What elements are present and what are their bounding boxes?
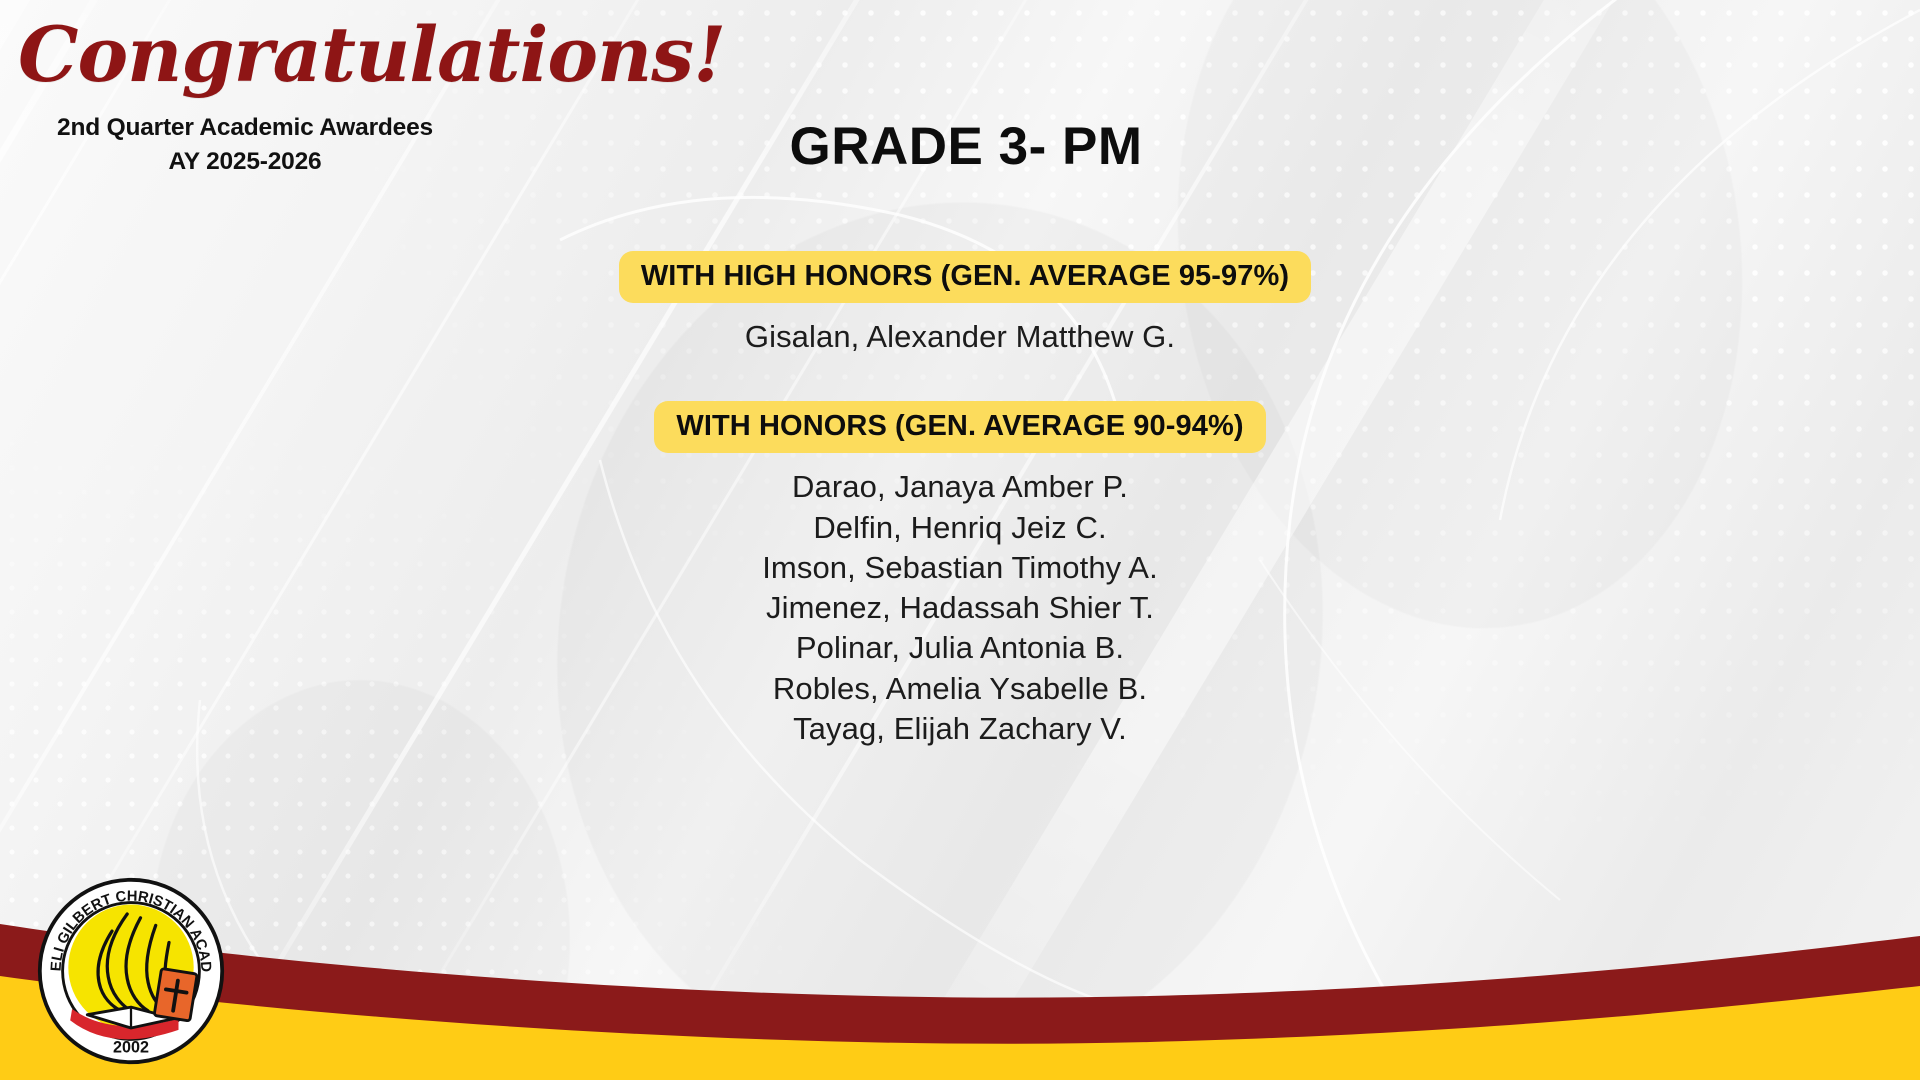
badge-with-honors: WITH HONORS (GEN. AVERAGE 90-94%) xyxy=(654,401,1265,453)
badge-with-high-honors: WITH HIGH HONORS (GEN. AVERAGE 95-97%) xyxy=(619,251,1311,303)
logo-year: 2002 xyxy=(113,1039,149,1057)
names-list-high-honors: Gisalan, Alexander Matthew G. xyxy=(330,317,1590,357)
school-logo: ANGELI GILBERT CHRISTIAN ACADEMY 2002 xyxy=(36,876,226,1066)
awardee-name: Polinar, Julia Antonia B. xyxy=(330,628,1590,668)
honor-section-honors: WITH HONORS (GEN. AVERAGE 90-94%) Darao,… xyxy=(330,401,1590,749)
names-list-honors: Darao, Janaya Amber P. Delfin, Henriq Je… xyxy=(330,467,1590,749)
awardee-name: Tayag, Elijah Zachary V. xyxy=(330,709,1590,749)
award-poster: Congratulations! 2nd Quarter Academic Aw… xyxy=(0,0,1920,1080)
section-spacer xyxy=(330,357,1590,401)
awardee-name: Delfin, Henriq Jeiz C. xyxy=(330,508,1590,548)
honor-section-high-honors: WITH HIGH HONORS (GEN. AVERAGE 95-97%) G… xyxy=(330,251,1590,357)
awardee-name: Gisalan, Alexander Matthew G. xyxy=(330,317,1590,357)
awardee-name: Jimenez, Hadassah Shier T. xyxy=(330,588,1590,628)
grade-title: GRADE 3- PM xyxy=(330,120,1590,173)
bottom-wave-decoration xyxy=(0,900,1920,1080)
awardee-name: Darao, Janaya Amber P. xyxy=(330,467,1590,507)
main-content: GRADE 3- PM WITH HIGH HONORS (GEN. AVERA… xyxy=(330,120,1590,749)
awardee-name: Robles, Amelia Ysabelle B. xyxy=(330,669,1590,709)
logo-bible-cross-icon xyxy=(154,968,197,1021)
awardee-name: Imson, Sebastian Timothy A. xyxy=(330,548,1590,588)
congratulations-title: Congratulations! xyxy=(10,14,620,96)
